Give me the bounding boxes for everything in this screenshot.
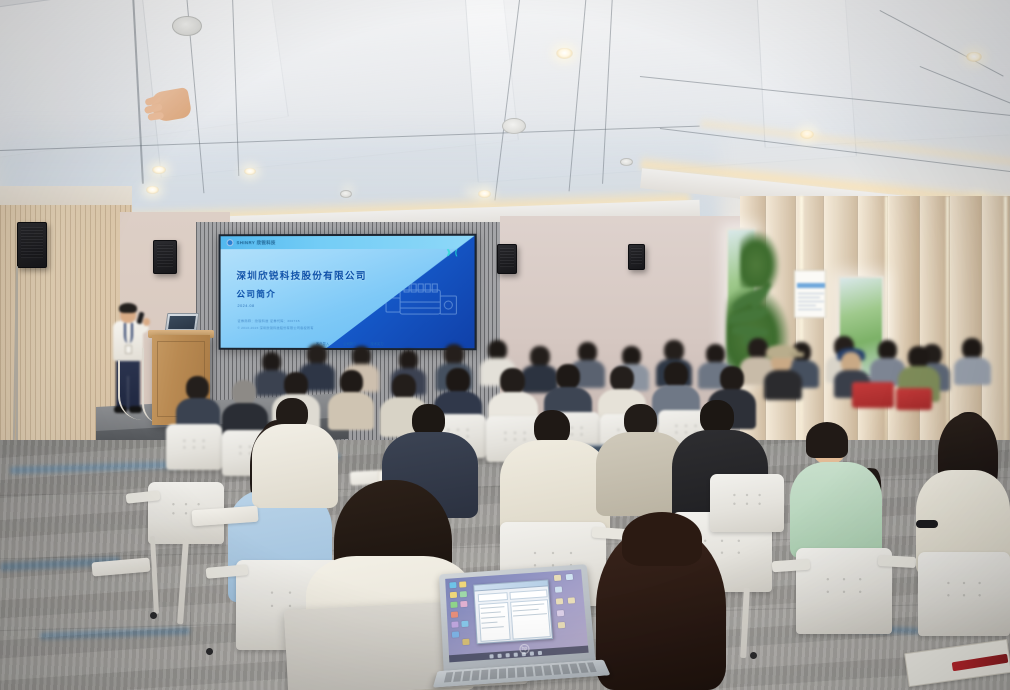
slide-title: 深圳欣锐科技股份有限公司 [236, 268, 366, 282]
wall-speaker [17, 222, 47, 268]
slide-subtitle: 公司简介 [236, 288, 276, 300]
wall-speaker [628, 244, 645, 270]
chair [710, 474, 784, 532]
slide-bottom-menu: 客户导入 公司简介 技术实力 [316, 341, 384, 346]
slide-menu-item: 公司简介 [343, 341, 356, 346]
laptop-screen[interactable] [445, 569, 588, 662]
presenter-badge [125, 345, 132, 354]
wall-speaker [497, 244, 517, 274]
open-dialog-window[interactable] [473, 579, 553, 644]
laptop-lid: hp [439, 564, 595, 672]
company-logo-icon [227, 239, 234, 246]
potted-palm [740, 230, 780, 288]
chair [918, 552, 1010, 636]
slide-footer-line-1: 证券简称：欣锐科技 证券代码：300745 [237, 318, 300, 323]
hp-laptop[interactable]: hp [428, 562, 614, 690]
chair [166, 424, 222, 470]
slide-content: SHINRY 欣锐科技 [221, 236, 475, 348]
product-illustration-icon [378, 276, 464, 328]
conference-room-scene: SHINRY 欣锐科技 [0, 0, 1010, 690]
slide-date: 2024.08 [237, 304, 254, 308]
wall-notice-poster [794, 270, 826, 318]
slide-footer-line-2: © 2013-2024 深圳欣锐科技股份有限公司版权所有 [237, 325, 313, 330]
wall-speaker [153, 240, 177, 274]
slide-menu-item: 技术实力 [370, 341, 383, 346]
company-logo-text: SHINRY 欣锐科技 [236, 240, 275, 246]
projection-screen: SHINRY 欣锐科技 [219, 234, 477, 351]
slide-corner-mark: 》( [447, 248, 458, 258]
slide-header-bar: SHINRY 欣锐科技 [221, 236, 475, 249]
presenter-lanyard [124, 323, 133, 343]
